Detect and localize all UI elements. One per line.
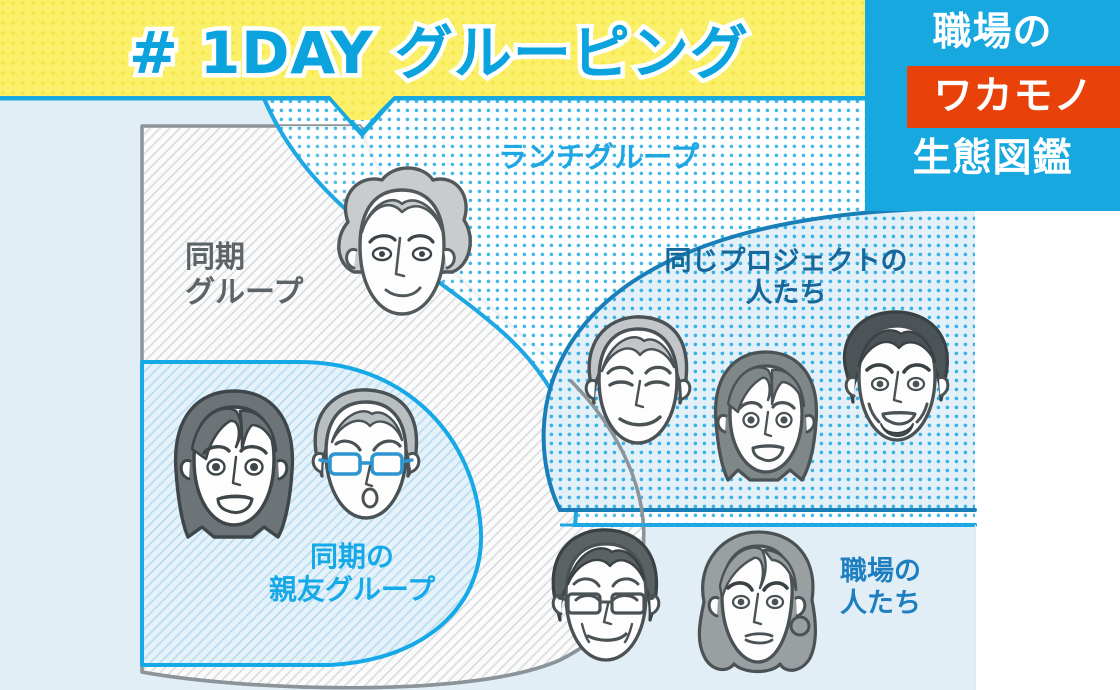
badge-connector-tick bbox=[14, 96, 48, 99]
face-person-bangs-woman bbox=[716, 352, 817, 480]
badge-line-3: 生態図鑑 bbox=[865, 138, 1120, 179]
badge-line-2: ワカモノ bbox=[933, 76, 1093, 117]
label-lunch-group: ランチグループ bbox=[498, 140, 699, 174]
illustration-canvas: 同期 グループ ランチグループ 同じプロジェクトの 人たち 同期の 親友グループ… bbox=[0, 0, 1120, 690]
badge-line-1: 職場の bbox=[865, 12, 1120, 53]
label-workplace-group: 職場の 人たち bbox=[840, 556, 990, 620]
banner-title-outline: # 1DAY グルーピング bbox=[0, 0, 878, 96]
face-person-bob-woman bbox=[176, 391, 293, 537]
badge-highlight: ワカモノ bbox=[907, 66, 1120, 128]
label-project-group: 同じプロジェクトの 人たち bbox=[636, 246, 936, 310]
label-best-friend-group: 同期の 親友グループ bbox=[232, 540, 472, 606]
header-banner: # 1DAY グルーピング # 1DAY グルーピング bbox=[0, 0, 878, 96]
face-person-wavy-woman bbox=[699, 532, 815, 672]
series-badge: 職場の ワカモノ 生態図鑑 bbox=[865, 0, 1120, 211]
label-douki-group: 同期 グループ bbox=[185, 240, 385, 311]
